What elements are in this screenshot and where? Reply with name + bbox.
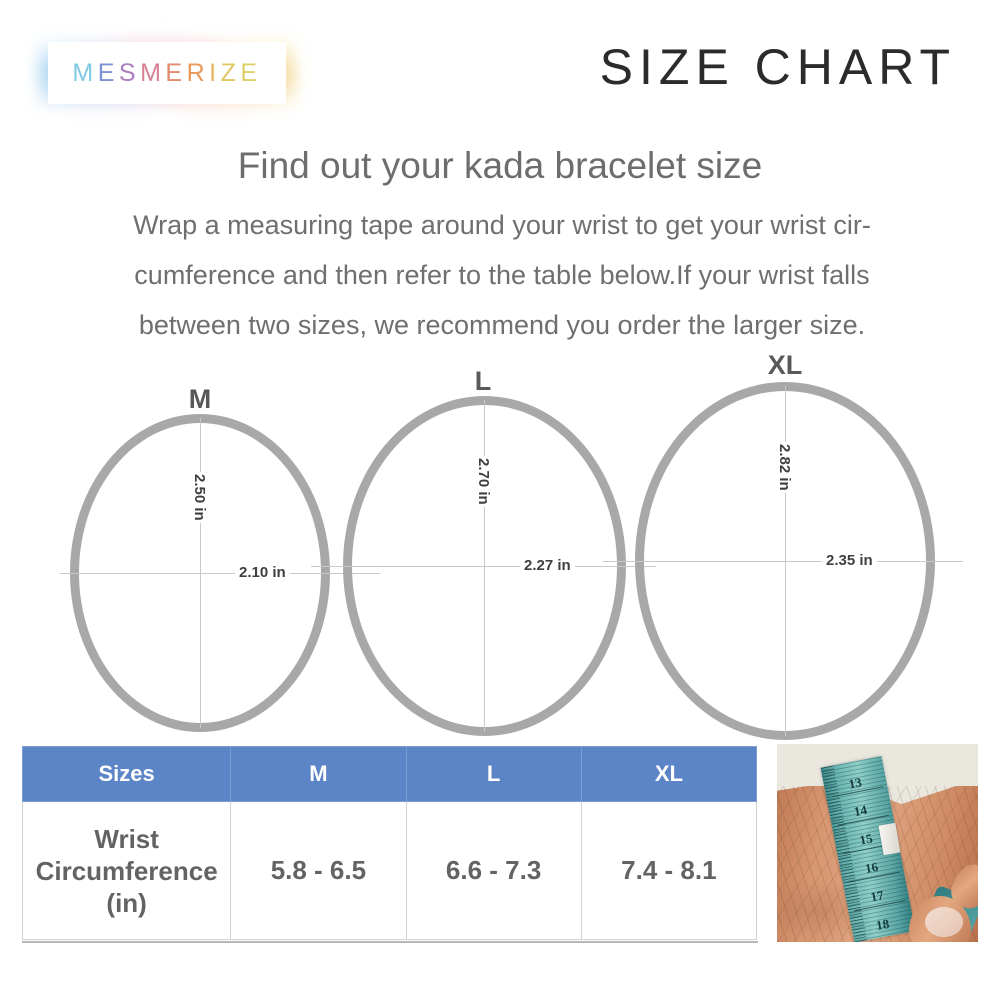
logo-letter: I xyxy=(209,59,220,88)
table-row: Wrist Circumference (in) 5.8 - 6.5 6.6 -… xyxy=(23,802,757,940)
instructions-line-1: Wrap a measuring tape around your wrist … xyxy=(48,200,956,250)
crosshair-horizontal-m xyxy=(60,573,380,574)
oval-width-label-xl: 2.35 in xyxy=(822,552,877,569)
table-col-header-m: M xyxy=(231,747,406,802)
table-bottom-rule xyxy=(22,941,758,943)
oval-label-m: M xyxy=(60,384,340,415)
row-header-line-3: (in) xyxy=(106,888,146,918)
row-header-line-1: Wrist xyxy=(94,824,159,854)
crosshair-vertical-l xyxy=(484,400,485,732)
logo-letter: S xyxy=(119,59,140,88)
table-col-header-xl: XL xyxy=(581,747,756,802)
oval-diagram-group: M 2.50 in 2.10 in L 2.70 in 2.27 in XL 2… xyxy=(0,352,1000,742)
cell-wrist-circumference-l: 6.6 - 7.3 xyxy=(406,802,581,940)
size-chart-page: MESMERIZE SIZE CHART Find out your kada … xyxy=(0,0,1000,1000)
oval-label-l: L xyxy=(333,366,633,397)
oval-width-label-l: 2.27 in xyxy=(520,557,575,574)
oval-diagram-l: L 2.70 in 2.27 in xyxy=(333,374,633,736)
oval-diagram-xl: XL 2.82 in 2.35 in xyxy=(625,358,945,740)
logo-letter: Z xyxy=(221,59,241,88)
crosshair-horizontal-xl xyxy=(603,561,963,562)
instructions-paragraph: Wrap a measuring tape around your wrist … xyxy=(48,200,956,350)
crosshair-vertical-m xyxy=(200,418,201,728)
row-header-wrist-circumference: Wrist Circumference (in) xyxy=(23,802,231,940)
logo-letter: M xyxy=(140,59,165,88)
table-header-row: Sizes M L XL xyxy=(23,747,757,802)
oval-height-label-xl: 2.82 in xyxy=(776,442,793,493)
row-header-line-2: Circumference xyxy=(36,856,218,886)
oval-label-xl: XL xyxy=(625,350,945,381)
wrist-measurement-photo: 13 14 15 16 17 18 xyxy=(777,744,978,942)
brand-logo: MESMERIZE xyxy=(48,42,286,104)
instructions-line-3: between two sizes, we recommend you orde… xyxy=(48,300,956,350)
logo-plate: MESMERIZE xyxy=(48,42,286,104)
cell-wrist-circumference-m: 5.8 - 6.5 xyxy=(231,802,406,940)
oval-width-label-m: 2.10 in xyxy=(235,564,290,581)
oval-height-label-l: 2.70 in xyxy=(475,456,492,507)
crosshair-vertical-xl xyxy=(785,386,786,736)
oval-height-label-m: 2.50 in xyxy=(191,472,208,523)
logo-wordmark: MESMERIZE xyxy=(72,59,261,88)
logo-letter: E xyxy=(240,59,261,88)
table-col-header-sizes: Sizes xyxy=(23,747,231,802)
table-col-header-l: L xyxy=(406,747,581,802)
size-table: Sizes M L XL Wrist Circumference (in) 5.… xyxy=(22,746,757,940)
logo-letter: E xyxy=(165,59,186,88)
cell-wrist-circumference-xl: 7.4 - 8.1 xyxy=(581,802,756,940)
instructions-line-2: cumference and then refer to the table b… xyxy=(48,250,956,300)
logo-letter: E xyxy=(98,59,119,88)
oval-diagram-m: M 2.50 in 2.10 in xyxy=(60,392,340,732)
headline: Find out your kada bracelet size xyxy=(0,145,1000,187)
photo-thumbnail xyxy=(925,907,963,937)
logo-letter: R xyxy=(187,59,210,88)
page-title: SIZE CHART xyxy=(600,38,956,96)
logo-letter: M xyxy=(72,59,97,88)
